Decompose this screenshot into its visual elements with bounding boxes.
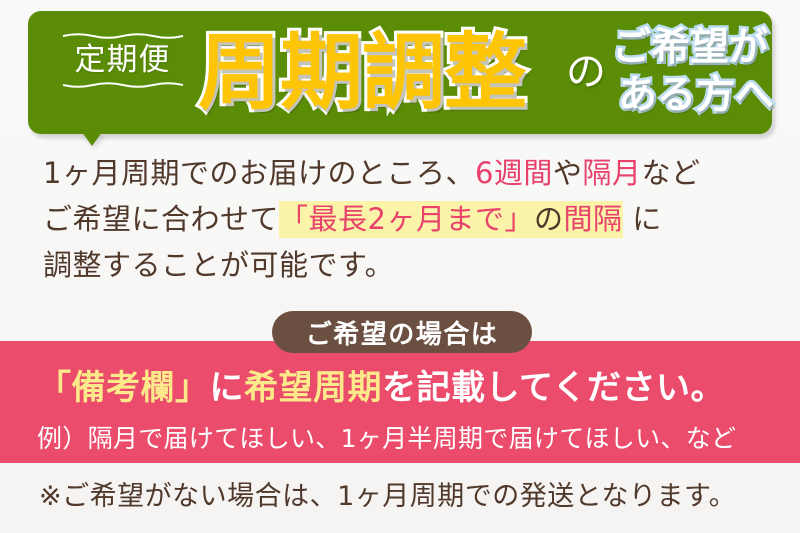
body-paragraph: 1ヶ月周期でのお届けのところ、6週間や隔月など ご希望に合わせて「最長2ヶ月まで… bbox=[43, 150, 773, 288]
title-connector: の bbox=[566, 52, 606, 92]
footnote-text: ※ご希望がない場合は、1ヶ月周期での発送となります。 bbox=[39, 477, 736, 517]
speech-bubble-tail-icon bbox=[82, 132, 102, 146]
body-line-2-seg-1: ご希望に合わせて bbox=[43, 202, 279, 236]
pink-headline-seg-4: を記載してください。 bbox=[382, 368, 725, 408]
body-line-2: ご希望に合わせて「最長2ヶ月まで」の間隔 に bbox=[43, 196, 773, 242]
subscription-tag: 定期便 bbox=[60, 32, 185, 89]
promo-banner: 定期便 周期調整 の ご希望が ある方へ 1ヶ月周期でのお届けのところ、6週間や… bbox=[0, 0, 800, 533]
body-line-1-seg-1: 1ヶ月周期でのお届けのところ、 bbox=[43, 156, 475, 190]
status-badge-label: ご希望の場合は bbox=[306, 314, 499, 351]
pink-headline-remarks-field: 「備考欄」 bbox=[37, 368, 210, 408]
body-line-1-seg-3: や bbox=[553, 156, 583, 190]
body-line-2-highlight-no: の bbox=[534, 201, 564, 238]
subscription-tag-label: 定期便 bbox=[60, 42, 185, 79]
pink-callout-headline: 「備考欄」に希望周期を記載してください。 bbox=[37, 366, 725, 410]
pink-headline-seg-2: に bbox=[210, 368, 245, 408]
body-line-1-seg-5: など bbox=[641, 156, 700, 190]
page-title: 周期調整 bbox=[198, 14, 526, 132]
pink-headline-desired-cycle: 希望周期 bbox=[244, 368, 382, 408]
status-badge: ご希望の場合は bbox=[272, 311, 532, 353]
body-line-2-highlight-maxperiod: 「最長2ヶ月まで」 bbox=[279, 201, 534, 238]
body-line-1: 1ヶ月周期でのお届けのところ、6週間や隔月など bbox=[43, 150, 773, 196]
pink-callout-example: 例）隔月で届けてほしい、1ヶ月半周期で届けてほしい、など bbox=[37, 422, 736, 456]
wavy-line-bottom-icon bbox=[62, 82, 184, 89]
wish-subtitle: ご希望が ある方へ bbox=[612, 24, 762, 120]
wish-subtitle-line-1: ご希望が bbox=[612, 24, 762, 72]
body-line-2-highlight-interval: 間隔 bbox=[563, 201, 622, 238]
body-line-2-seg-5: に bbox=[623, 202, 662, 236]
body-line-1-accent-bimonthly: 隔月 bbox=[582, 156, 641, 190]
body-line-1-accent-6weeks: 6週間 bbox=[475, 156, 553, 190]
wavy-line-top-icon bbox=[62, 32, 184, 39]
wish-subtitle-line-2: ある方へ bbox=[618, 72, 762, 120]
body-line-3: 調整することが可能です。 bbox=[43, 242, 773, 288]
